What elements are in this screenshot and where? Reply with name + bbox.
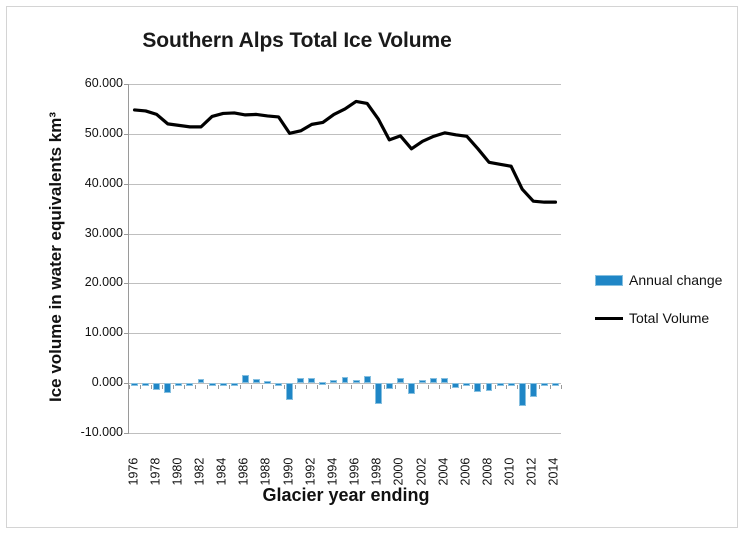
x-axis-tick bbox=[240, 385, 241, 389]
x-axis-tick bbox=[184, 385, 185, 389]
x-axis-tick bbox=[395, 385, 396, 389]
x-axis-tick-label: 1994 bbox=[326, 457, 339, 485]
x-axis-tick bbox=[295, 385, 296, 389]
x-axis-title: Glacier year ending bbox=[123, 485, 569, 506]
bar bbox=[430, 378, 437, 383]
x-axis-tick-label: 1980 bbox=[171, 457, 184, 485]
y-axis-tick-label: 60.000 bbox=[51, 77, 123, 90]
y-axis-tick-label: 0.000 bbox=[51, 376, 123, 389]
x-axis-tick bbox=[207, 385, 208, 389]
chart-container: Southern Alps Total Ice Volume Ice volum… bbox=[6, 6, 738, 528]
x-axis-tick bbox=[561, 385, 562, 389]
x-axis-tick bbox=[306, 385, 307, 389]
x-axis-tick-label: 2004 bbox=[437, 457, 450, 485]
y-axis-tick-label: 20.000 bbox=[51, 276, 123, 289]
x-axis-tick-label: 2012 bbox=[526, 457, 539, 485]
gridline bbox=[129, 283, 561, 284]
x-axis-tick bbox=[162, 385, 163, 389]
bar bbox=[253, 379, 260, 383]
x-axis-tick bbox=[173, 385, 174, 389]
bar bbox=[198, 379, 205, 383]
bar bbox=[264, 381, 271, 384]
x-axis-tick bbox=[472, 385, 473, 389]
y-axis-tick bbox=[124, 184, 129, 185]
x-axis-tick bbox=[328, 385, 329, 389]
x-axis-tick-label: 1998 bbox=[371, 457, 384, 485]
y-axis-tick-label: 50.000 bbox=[51, 127, 123, 140]
x-axis-tick-labels: 1976197819801982198419861988199019921994… bbox=[129, 439, 561, 485]
x-axis-tick-label: 2006 bbox=[459, 457, 472, 485]
y-axis-tick-label: 30.000 bbox=[51, 227, 123, 240]
legend-label: Annual change bbox=[629, 272, 722, 288]
bar bbox=[397, 378, 404, 383]
x-axis-tick bbox=[140, 385, 141, 389]
gridline bbox=[129, 134, 561, 135]
x-axis-tick-label: 1976 bbox=[127, 457, 140, 485]
y-axis-tick bbox=[124, 84, 129, 85]
x-axis-tick-label: 2014 bbox=[548, 457, 561, 485]
y-axis-tick-labels: 60.00050.00040.00030.00020.00010.0000.00… bbox=[47, 84, 123, 433]
y-axis-tick-label: 10.000 bbox=[51, 326, 123, 339]
x-axis-tick-label: 2010 bbox=[504, 457, 517, 485]
x-axis-tick bbox=[284, 385, 285, 389]
x-axis-tick bbox=[129, 385, 130, 389]
x-axis-tick-label: 1978 bbox=[149, 457, 162, 485]
gridline bbox=[129, 433, 561, 434]
x-axis-tick bbox=[273, 385, 274, 389]
legend-item-annual-change: Annual change bbox=[595, 269, 722, 291]
x-axis-tick bbox=[384, 385, 385, 389]
y-axis-tick bbox=[124, 383, 129, 384]
bar bbox=[342, 377, 349, 383]
y-axis-tick bbox=[124, 433, 129, 434]
x-axis-tick-label: 1986 bbox=[238, 457, 251, 485]
x-axis-tick-label: 1984 bbox=[216, 457, 229, 485]
x-axis-tick-marks bbox=[129, 385, 561, 389]
legend-label: Total Volume bbox=[629, 310, 709, 326]
y-axis-line bbox=[128, 84, 129, 433]
x-axis-tick bbox=[339, 385, 340, 389]
x-axis-tick-label: 1982 bbox=[194, 457, 207, 485]
x-axis-tick bbox=[528, 385, 529, 389]
x-axis-tick bbox=[550, 385, 551, 389]
x-axis-tick bbox=[483, 385, 484, 389]
x-axis-tick-label: 2000 bbox=[393, 457, 406, 485]
bar bbox=[297, 378, 304, 383]
y-axis-tick bbox=[124, 134, 129, 135]
bar bbox=[419, 380, 426, 383]
x-axis-tick bbox=[428, 385, 429, 389]
x-axis-tick bbox=[439, 385, 440, 389]
y-axis-tick bbox=[124, 283, 129, 284]
chart-title: Southern Alps Total Ice Volume bbox=[7, 29, 587, 53]
legend-line-swatch-icon bbox=[595, 317, 623, 320]
bar bbox=[441, 378, 448, 383]
gridline bbox=[129, 84, 561, 85]
x-axis-tick bbox=[517, 385, 518, 389]
bar bbox=[330, 380, 337, 383]
x-axis-tick bbox=[406, 385, 407, 389]
x-axis-tick bbox=[195, 385, 196, 389]
x-axis-tick bbox=[417, 385, 418, 389]
x-axis-tick-label: 1996 bbox=[349, 457, 362, 485]
bar bbox=[242, 375, 249, 383]
x-axis-tick bbox=[450, 385, 451, 389]
x-axis-tick-label: 2002 bbox=[415, 457, 428, 485]
x-axis-tick bbox=[317, 385, 318, 389]
plot-area bbox=[129, 84, 561, 433]
x-axis-tick bbox=[373, 385, 374, 389]
bar bbox=[353, 380, 360, 383]
x-axis-tick bbox=[539, 385, 540, 389]
x-axis-tick-label: 1990 bbox=[282, 457, 295, 485]
x-axis-tick bbox=[262, 385, 263, 389]
x-axis-tick bbox=[251, 385, 252, 389]
gridline bbox=[129, 234, 561, 235]
gridline bbox=[129, 333, 561, 334]
chart-legend: Annual change Total Volume bbox=[595, 269, 743, 333]
x-axis-tick bbox=[151, 385, 152, 389]
y-axis-tick-label: 40.000 bbox=[51, 177, 123, 190]
x-axis-tick-label: 1988 bbox=[260, 457, 273, 485]
y-axis-tick-label: -10.000 bbox=[51, 426, 123, 439]
x-axis-tick bbox=[351, 385, 352, 389]
legend-item-total-volume: Total Volume bbox=[595, 307, 709, 329]
bar bbox=[364, 376, 371, 383]
gridline bbox=[129, 184, 561, 185]
x-axis-tick bbox=[218, 385, 219, 389]
y-axis-tick bbox=[124, 234, 129, 235]
x-axis-tick bbox=[461, 385, 462, 389]
x-axis-tick bbox=[506, 385, 507, 389]
x-axis-tick-label: 1992 bbox=[304, 457, 317, 485]
x-axis-tick bbox=[362, 385, 363, 389]
legend-bar-swatch-icon bbox=[595, 275, 623, 286]
bar bbox=[308, 378, 315, 383]
y-axis-tick bbox=[124, 333, 129, 334]
x-axis-tick-label: 2008 bbox=[482, 457, 495, 485]
x-axis-tick bbox=[495, 385, 496, 389]
x-axis-tick bbox=[229, 385, 230, 389]
